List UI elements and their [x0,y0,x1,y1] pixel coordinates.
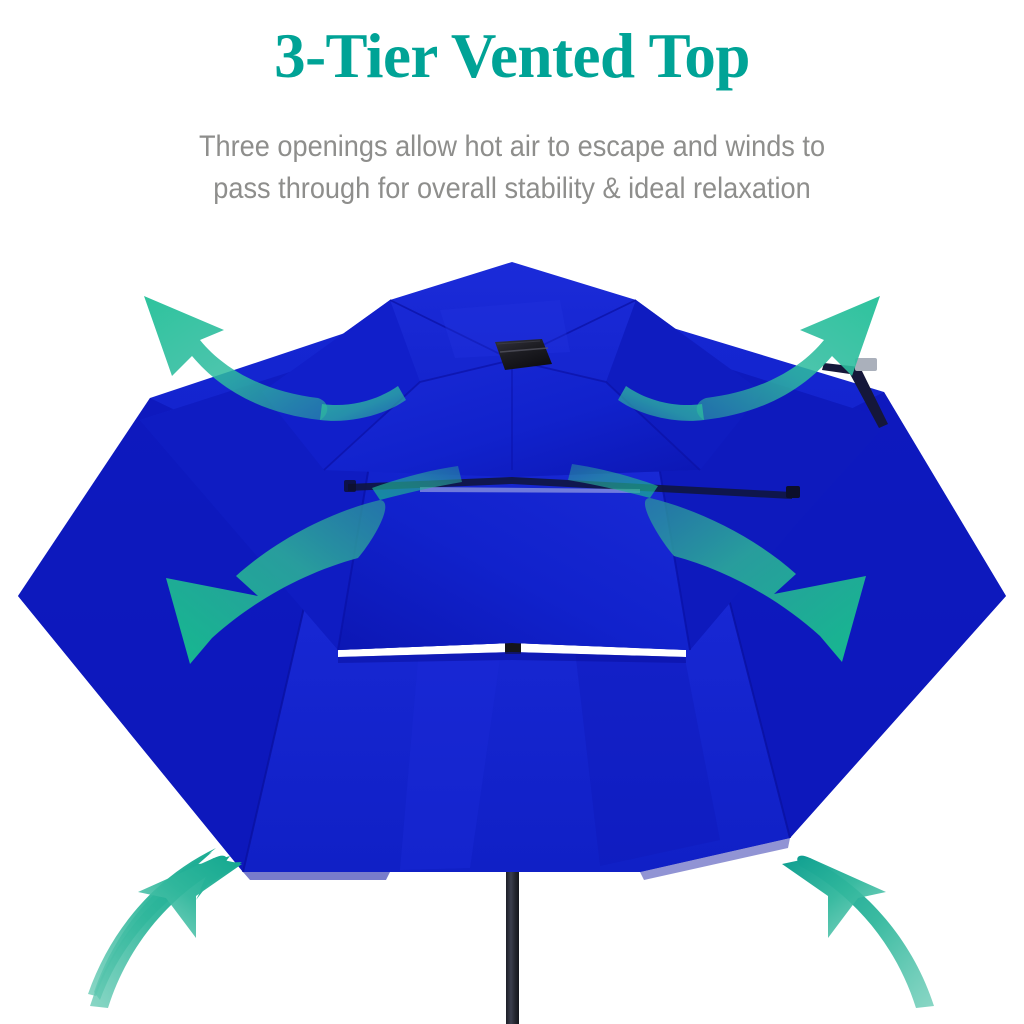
strap-buckle [855,358,877,371]
airflow-arrow-bottom-left [88,848,242,1008]
page-subtitle-line-1: Three openings allow hot air to escape a… [80,126,945,168]
page-subtitle: Three openings allow hot air to escape a… [42,126,982,210]
page-title: 3-Tier Vented Top [0,20,1024,92]
canopy-top-tier [262,262,762,477]
page-subtitle-line-2: pass through for overall stability & ide… [80,168,945,210]
airflow-arrow-bottom-right [782,856,934,1008]
product-feature-image: 3-Tier Vented Top Three openings allow h… [0,0,1024,1024]
